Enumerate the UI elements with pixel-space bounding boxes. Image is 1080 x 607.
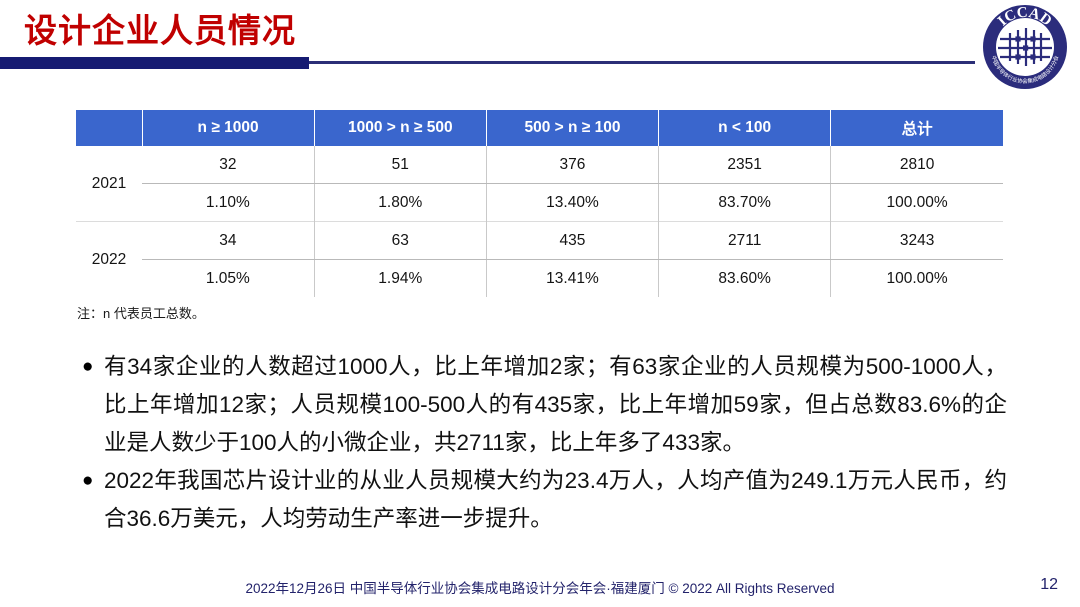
list-item: ● 有34家企业的人数超过1000人，比上年增加2家；有63家企业的人员规模为5… xyxy=(82,348,1007,462)
cell-count: 435 xyxy=(486,222,658,260)
cell-percent: 1.05% xyxy=(142,260,314,298)
row-year-label: 2022 xyxy=(76,222,142,298)
cell-count: 63 xyxy=(314,222,486,260)
title-rule-thin xyxy=(309,61,975,64)
table-header-1000-500: 1000 > n ≥ 500 xyxy=(314,110,486,146)
footer-text: 2022年12月26日 中国半导体行业协会集成电路设计分会年会·福建厦门 © 2… xyxy=(0,577,1080,597)
table-row: 1.10% 1.80% 13.40% 83.70% 100.00% xyxy=(76,184,1003,222)
cell-percent: 83.60% xyxy=(659,260,831,298)
row-year-label: 2021 xyxy=(76,146,142,222)
cell-count: 2351 xyxy=(659,146,831,184)
bullet-dot-icon: ● xyxy=(82,462,104,500)
bullet-dot-icon: ● xyxy=(82,348,104,386)
table-header-row: n ≥ 1000 1000 > n ≥ 500 500 > n ≥ 100 n … xyxy=(76,110,1003,146)
cell-count: 32 xyxy=(142,146,314,184)
bullet-text: 有34家企业的人数超过1000人，比上年增加2家；有63家企业的人员规模为500… xyxy=(104,348,1007,462)
table-row: 2021 32 51 376 2351 2810 xyxy=(76,146,1003,184)
bullet-list: ● 有34家企业的人数超过1000人，比上年增加2家；有63家企业的人员规模为5… xyxy=(82,348,1007,538)
table-header-corner xyxy=(76,110,142,146)
cell-count: 376 xyxy=(486,146,658,184)
table-note: 注：n 代表员工总数。 xyxy=(77,303,205,322)
iccad-logo-icon: ICCAD 中国半导体行业协会集成电路设计分会 xyxy=(981,3,1069,91)
cell-percent: 1.10% xyxy=(142,184,314,222)
cell-percent: 1.94% xyxy=(314,260,486,298)
table-header-500-100: 500 > n ≥ 100 xyxy=(486,110,658,146)
cell-percent: 100.00% xyxy=(831,184,1003,222)
cell-count: 2711 xyxy=(659,222,831,260)
personnel-table: n ≥ 1000 1000 > n ≥ 500 500 > n ≥ 100 n … xyxy=(76,110,1003,297)
cell-percent: 1.80% xyxy=(314,184,486,222)
page-number: 12 xyxy=(1040,576,1058,594)
cell-count: 3243 xyxy=(831,222,1003,260)
table-header-n-ge-1000: n ≥ 1000 xyxy=(142,110,314,146)
cell-percent: 100.00% xyxy=(831,260,1003,298)
table-row: 1.05% 1.94% 13.41% 83.60% 100.00% xyxy=(76,260,1003,298)
bullet-text: 2022年我国芯片设计业的从业人员规模大约为23.4万人，人均产值为249.1万… xyxy=(104,462,1007,538)
cell-percent: 13.40% xyxy=(486,184,658,222)
cell-percent: 83.70% xyxy=(659,184,831,222)
table-header-n-lt-100: n < 100 xyxy=(659,110,831,146)
cell-count: 51 xyxy=(314,146,486,184)
table-row: 2022 34 63 435 2711 3243 xyxy=(76,222,1003,260)
cell-count: 34 xyxy=(142,222,314,260)
title-rule-thick xyxy=(0,57,309,69)
page-title: 设计企业人员情况 xyxy=(24,9,296,53)
cell-percent: 13.41% xyxy=(486,260,658,298)
cell-count: 2810 xyxy=(831,146,1003,184)
iccad-logo: ICCAD 中国半导体行业协会集成电路设计分会 xyxy=(981,3,1069,91)
table-header-total: 总计 xyxy=(831,110,1003,146)
list-item: ● 2022年我国芯片设计业的从业人员规模大约为23.4万人，人均产值为249.… xyxy=(82,462,1007,538)
